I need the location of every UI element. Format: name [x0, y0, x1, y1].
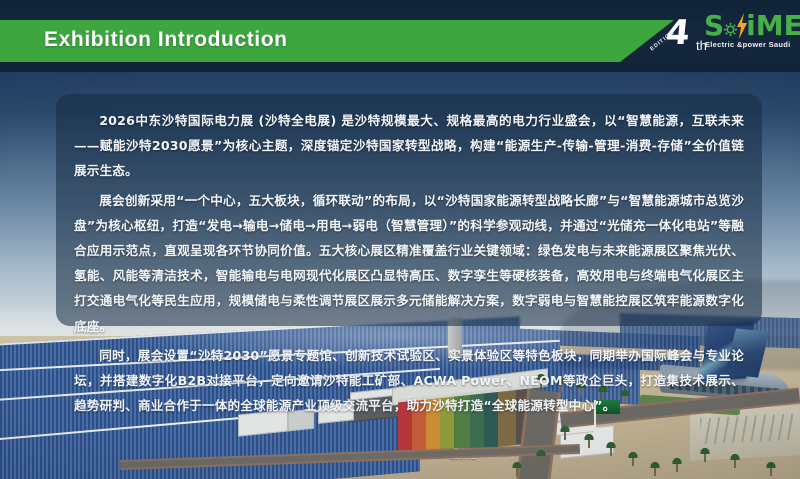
palm-tree: [606, 440, 616, 456]
event-logo[interactable]: 4 EDITION th S: [642, 4, 792, 66]
palm-tree: [628, 450, 638, 466]
palm-tree: [672, 456, 682, 472]
palm-tree: [584, 432, 594, 448]
intro-paragraph-1: 2026中东沙特国际电力展 (沙特全电展) 是沙特规模最大、规格最高的电力行业盛…: [74, 108, 744, 184]
palm-tree: [650, 460, 660, 476]
lightning-bolt-icon: [736, 13, 748, 39]
palm-tree: [766, 460, 776, 476]
brand-lockup: S iME Electric &power Saudi: [704, 12, 796, 60]
brand-letter-s: S: [704, 12, 724, 40]
introduction-panel: 2026中东沙特国际电力展 (沙特全电展) 是沙特规模最大、规格最高的电力行业盛…: [56, 94, 762, 326]
palm-tree: [700, 446, 710, 462]
brand-wordmark: S iME: [704, 12, 800, 40]
edition-mark: 4 EDITION th: [652, 14, 702, 58]
brand-letters-ime: iME: [746, 12, 800, 40]
palm-tree: [560, 424, 570, 440]
intro-paragraph-3: 同时，展会设置“沙特2030”愿景专题馆、创新技术试验区、实景体验区等特色板块，…: [74, 343, 744, 419]
palm-tree: [730, 452, 740, 468]
page-title: Exhibition Introduction: [44, 28, 288, 52]
palm-tree: [536, 448, 546, 464]
intro-paragraph-2: 展会创新采用“一个中心，五大板块，循环联动”的布局，以“沙特国家能源转型战略长廊…: [74, 188, 744, 339]
brand-tagline: Electric &power Saudi: [705, 40, 791, 49]
slide-canvas: R&D CENTRE: [0, 0, 800, 479]
palm-tree: [512, 460, 522, 476]
